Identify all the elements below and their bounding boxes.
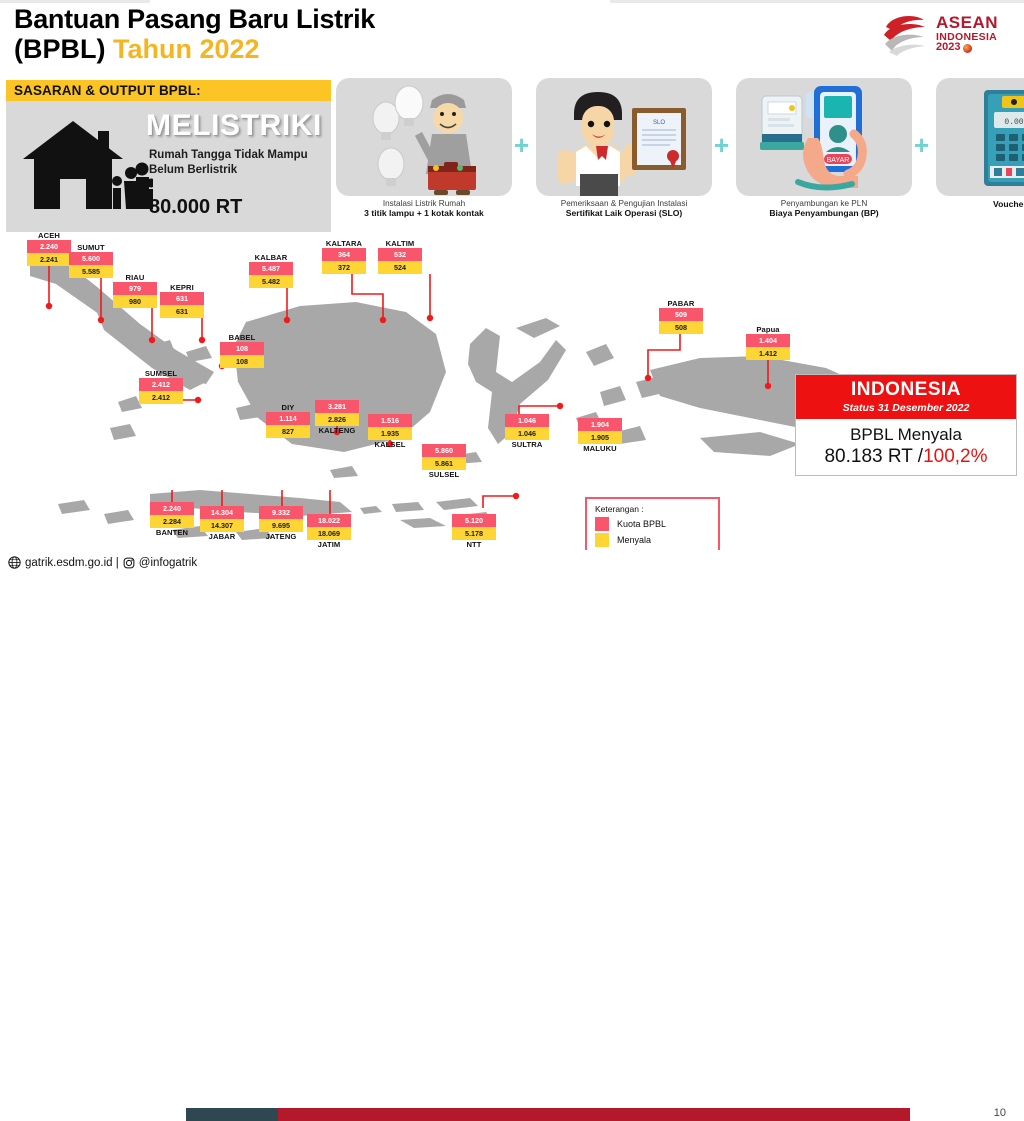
- region-label-papua: Papua 1.404 1.412: [746, 326, 790, 360]
- region-label-kalteng: 3.281 2.826 KALTENG: [315, 400, 359, 435]
- region-label-kalbar: KALBAR 5.487 5.482: [249, 254, 293, 288]
- top-divider-gap: [150, 0, 610, 3]
- step-4-caption-bottom: Voucher Listrik: [993, 199, 1024, 210]
- inspector-certificate-icon: SLO: [536, 78, 712, 196]
- plus-icon-3: +: [914, 130, 929, 161]
- legend-swatch-kuota: [595, 517, 609, 531]
- prepaid-meter-icon: 0.00 Rp.: [936, 78, 1024, 196]
- summary-metric-label: BPBL Menyala: [796, 425, 1016, 445]
- plus-icon-1: +: [514, 130, 529, 161]
- title-acronym: (BPBL): [14, 34, 105, 64]
- legend-label-menyala: Menyala: [617, 535, 651, 545]
- region-label-sumsel: SUMSEL 2.412 2.412: [139, 370, 183, 404]
- footer-bar-dark: [186, 1108, 278, 1121]
- region-label-jatim: 18.022 18.069 JATIM: [307, 514, 351, 549]
- region-label-jabar: 14.304 14.307 JABAR: [200, 506, 244, 541]
- indonesia-summary-card: INDONESIA Status 31 Desember 2022 BPBL M…: [795, 374, 1017, 476]
- step-3-caption-bottom: Biaya Penyambungan (BP): [769, 208, 878, 219]
- region-label-jateng: 9.332 9.695 JATENG: [259, 506, 303, 541]
- plus-icon-2: +: [714, 130, 729, 161]
- region-label-kaltim: KALTIM 532 524: [378, 240, 422, 274]
- legend-swatch-menyala: [595, 533, 609, 547]
- region-label-babel: BABEL 108 108: [220, 334, 264, 368]
- footer-site[interactable]: gatrik.esdm.go.id |: [25, 557, 119, 569]
- region-label-pabar: PABAR 509 508: [659, 300, 703, 334]
- sasaran-bar: SASARAN & OUTPUT BPBL:: [6, 80, 331, 101]
- page-title: Bantuan Pasang Baru Listrik (BPBL) Tahun…: [14, 4, 654, 64]
- step-3-caption-top: Penyambungan ke PLN: [781, 199, 867, 208]
- step-1-caption-bottom: 3 titik lampu + 1 kotak kontak: [364, 208, 484, 219]
- svg-text:BAYAR: BAYAR: [827, 157, 850, 164]
- asean-name: ASEAN: [936, 14, 998, 31]
- footer-handle[interactable]: @infogatrik: [139, 557, 197, 569]
- summary-status: Status 31 Desember 2022: [796, 402, 1016, 414]
- region-label-sultra: 1.046 1.046 SULTRA: [505, 414, 549, 449]
- page-number: 10: [994, 1107, 1006, 1119]
- asean-logo: ASEAN INDONESIA 2023: [880, 6, 1010, 62]
- svg-text:0.00: 0.00: [1004, 118, 1023, 127]
- legend-title: Keterangan :: [595, 504, 710, 514]
- step-2-caption-bottom: Sertifikat Laik Operasi (SLO): [566, 208, 683, 219]
- step-card-3: BAYAR Penyambungan ke PLN Biaya Penyambu…: [736, 78, 912, 230]
- house-family-icon: [18, 111, 153, 219]
- melistriki-target: 80.000 RT: [149, 196, 242, 219]
- summary-header: INDONESIA Status 31 Desember 2022: [796, 375, 1016, 419]
- summary-country: INDONESIA: [796, 379, 1016, 401]
- region-label-ntt: 5.120 5.178 NTT: [452, 514, 496, 549]
- step-card-2: SLO Pemeriksaan & Pengujian Instalasi Se…: [536, 78, 712, 230]
- legend-item-menyala: Menyala: [595, 533, 710, 547]
- region-label-aceh: ACEH 2.240 2.241: [27, 232, 71, 266]
- instagram-icon[interactable]: [123, 557, 135, 569]
- region-label-diy: DIY 1.114 827: [266, 404, 310, 438]
- asean-emblem-icon: [880, 11, 930, 57]
- summary-value: 80.183 RT /: [824, 446, 923, 467]
- step-card-4: 0.00 Rp. Vou: [936, 78, 1024, 230]
- melistriki-desc-1: Rumah Tangga Tidak Mampu: [149, 148, 329, 163]
- output-steps: Instalasi Listrik Rumah 3 titik lampu + …: [336, 78, 1020, 230]
- region-label-kaltara: KALTARA 364 372: [322, 240, 366, 274]
- slide-root: Bantuan Pasang Baru Listrik (BPBL) Tahun…: [0, 0, 1024, 582]
- title-line-1: Bantuan Pasang Baru Listrik: [14, 4, 654, 34]
- region-label-riau: RIAU 979 980: [113, 274, 157, 308]
- svg-text:SLO: SLO: [653, 120, 665, 126]
- asean-year: 2023: [936, 42, 960, 53]
- step-1-caption-top: Instalasi Listrik Rumah: [383, 199, 465, 208]
- summary-percent: 100,2%: [923, 446, 987, 467]
- summary-body: BPBL Menyala 80.183 RT /100,2%: [796, 419, 1016, 468]
- phone-payment-icon: BAYAR: [736, 78, 912, 196]
- region-label-banten: 2.240 2.284 BANTEN: [150, 502, 194, 537]
- melistriki-headline: MELISTRIKI: [146, 109, 322, 143]
- electrician-bulbs-icon: [336, 78, 512, 196]
- melistriki-panel: MELISTRIKI Rumah Tangga Tidak Mampu Belu…: [6, 101, 331, 232]
- asean-dot-icon: [963, 44, 972, 53]
- legend-label-kuota: Kuota BPBL: [617, 519, 666, 529]
- footer-contact: gatrik.esdm.go.id | @infogatrik: [8, 556, 197, 569]
- footer: gatrik.esdm.go.id | @infogatrik 10: [0, 550, 1024, 582]
- title-year: Tahun 2022: [113, 34, 260, 64]
- step-2-caption-top: Pemeriksaan & Pengujian Instalasi: [561, 199, 688, 208]
- region-label-kalsel: 1.516 1.935 KALSEL: [368, 414, 412, 449]
- legend-item-kuota: Kuota BPBL: [595, 517, 710, 531]
- region-label-maluku: 1.904 1.905 MALUKU: [578, 418, 622, 453]
- region-label-kepri: KEPRI 631 631: [160, 284, 204, 318]
- region-label-sumut: SUMUT 5.600 5.585: [69, 244, 113, 278]
- region-label-sulsel: 5.860 5.861 SULSEL: [422, 444, 466, 479]
- globe-icon: [8, 556, 21, 569]
- step-card-1: Instalasi Listrik Rumah 3 titik lampu + …: [336, 78, 512, 230]
- footer-bar-red: [278, 1108, 910, 1121]
- melistriki-desc-2: Belum Berlistrik: [149, 163, 329, 178]
